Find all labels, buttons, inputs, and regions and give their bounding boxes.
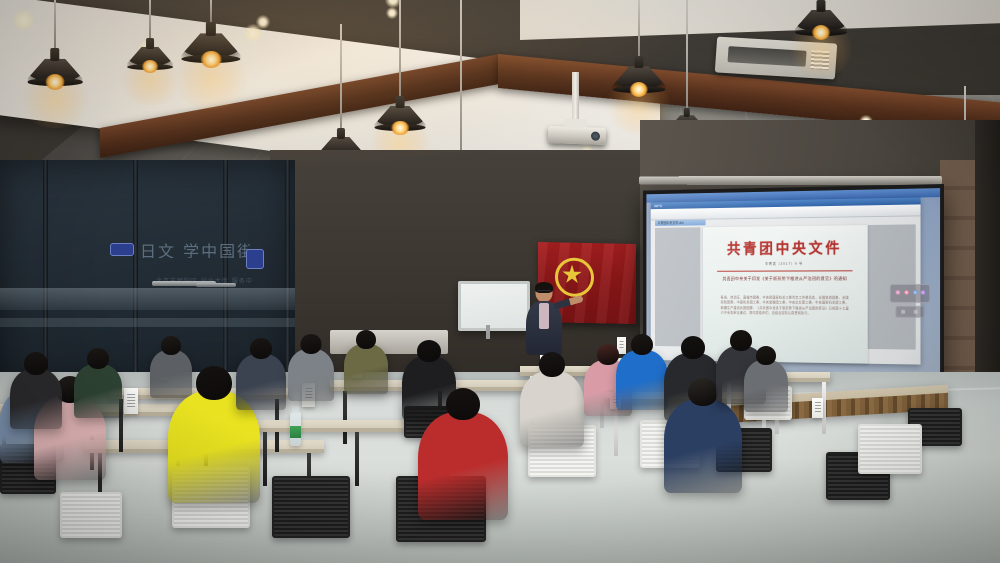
attendee-red-hoodie: [418, 388, 508, 528]
attendee-grey-far: [744, 346, 788, 417]
person-head: [161, 336, 181, 355]
attendee-navy-2: [236, 338, 286, 415]
person-torso: [744, 360, 788, 412]
person-head: [446, 388, 480, 420]
person-head: [196, 366, 232, 400]
attendee-grey-hoodie: [288, 334, 334, 406]
person-head: [539, 352, 565, 377]
person-torso: [664, 399, 742, 493]
person-torso: [236, 354, 286, 410]
person-torso: [288, 349, 334, 401]
person-torso: [520, 371, 584, 447]
person-head: [356, 330, 376, 349]
person-head: [631, 334, 653, 355]
person-torso: [74, 364, 122, 418]
person-head: [417, 340, 441, 362]
audience-layer: [0, 0, 1000, 563]
attendee-olive: [344, 330, 388, 399]
person-head: [301, 334, 322, 354]
person-head: [87, 348, 109, 369]
attendee-dark-front: [10, 352, 62, 435]
person-torso: [344, 344, 388, 394]
attendee-blue-jkt: [616, 334, 668, 415]
person-torso: [616, 350, 668, 410]
person-head: [24, 352, 48, 375]
person-head: [681, 336, 705, 359]
person-head: [756, 346, 776, 365]
person-head: [688, 378, 718, 406]
person-torso: [418, 412, 508, 520]
meeting-room-photo: 日文 学中国街 北京市朝阳区 创业大街 服务中心 WPS 共青团中央文件.doc: [0, 0, 1000, 563]
person-head: [250, 338, 272, 359]
person-torso: [10, 369, 62, 429]
attendee-green: [74, 348, 122, 423]
attendee-striped: [520, 352, 584, 453]
